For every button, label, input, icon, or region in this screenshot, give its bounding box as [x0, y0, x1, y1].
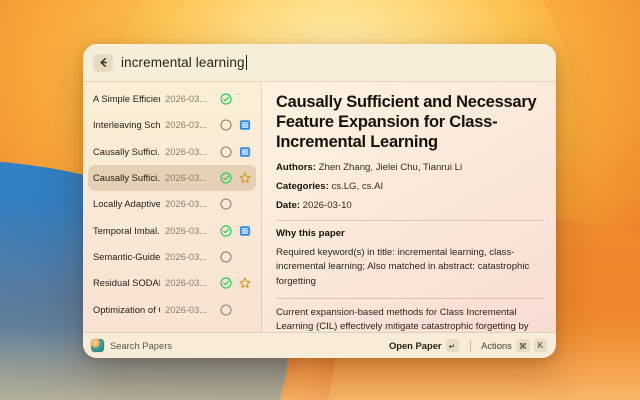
authors-value: Zhen Zhang, Jielei Chu, Tianrui Li [316, 162, 462, 173]
list-item-title: Causally Suffici... [93, 147, 160, 157]
list-item-title: A Simple Efficiency I... [93, 94, 160, 104]
list-item-icons [215, 277, 251, 290]
document-blue-icon [238, 224, 251, 237]
open-paper-label: Open Paper [389, 340, 442, 351]
circle-empty-icon [219, 303, 232, 316]
icon-empty [238, 198, 251, 211]
list-item-date: 2026-03... [165, 252, 207, 262]
list-item-date: 2026-03... [165, 278, 207, 288]
document-blue-icon [238, 119, 251, 132]
list-item[interactable]: Optimization of Conti...2026-03... [88, 296, 256, 322]
check-circle-icon [219, 172, 232, 185]
footer-bar: Search Papers Open Paper ↵ Actions ⌘ K [83, 332, 556, 358]
circle-empty-icon [219, 119, 232, 132]
circle-empty-icon [219, 250, 232, 263]
check-circle-icon [219, 93, 232, 106]
abstract-body: Current expansion-based methods for Clas… [276, 306, 543, 332]
authors-label: Authors: [276, 162, 316, 173]
paper-detail-pane: Causally Sufficient and Necessary Featur… [262, 82, 556, 332]
icon-empty [238, 93, 251, 106]
list-item-date: 2026-03... [165, 173, 207, 183]
list-item[interactable]: Causally Suffici...2026-03... [88, 139, 256, 165]
why-this-paper-heading: Why this paper [276, 228, 543, 239]
list-item[interactable]: Residual SODAP...2026-03... [88, 270, 256, 296]
categories-label: Categories: [276, 181, 329, 192]
desktop-background: incremental learning A Simple Efficiency… [0, 0, 640, 400]
spotlight-window: incremental learning A Simple Efficiency… [83, 44, 556, 358]
k-key-badge: K [534, 339, 547, 352]
list-item[interactable]: Semantic-Guided Dy...2026-03... [88, 244, 256, 270]
list-item[interactable]: Locally Adaptive Co...2026-03... [88, 191, 256, 217]
open-paper-action[interactable]: Open Paper ↵ [389, 339, 459, 352]
check-circle-icon [219, 277, 232, 290]
list-item-title: Locally Adaptive Co... [93, 199, 160, 209]
date-line: Date: 2026-03-10 [276, 200, 543, 212]
command-key-badge: ⌘ [516, 339, 530, 352]
list-item-icons [215, 145, 251, 158]
date-label: Date: [276, 200, 300, 211]
categories-line: Categories: cs.LG, cs.AI [276, 181, 543, 193]
star-icon [238, 172, 251, 185]
list-item-icons [215, 198, 251, 211]
page-title: Causally Sufficient and Necessary Featur… [276, 93, 543, 153]
divider-above-abstract [276, 298, 543, 299]
authors-line: Authors: Zhen Zhang, Jielei Chu, Tianrui… [276, 162, 543, 174]
window-body: A Simple Efficiency I...2026-03...Interl… [83, 82, 556, 332]
list-item-date: 2026-03... [165, 226, 207, 236]
list-item-title: Residual SODAP... [93, 278, 160, 288]
list-item-date: 2026-03... [165, 305, 207, 315]
footer-app-name: Search Papers [110, 340, 172, 351]
list-item-date: 2026-03... [165, 94, 207, 104]
return-key-badge: ↵ [446, 339, 459, 352]
search-input-value: incremental learning [121, 55, 245, 70]
list-item[interactable]: Temporal Imbal...2026-03... [88, 217, 256, 243]
list-item-title: Optimization of Conti... [93, 305, 160, 315]
list-item-title: Causally Suffici... [93, 173, 160, 183]
text-caret [246, 55, 248, 70]
list-item-icons [215, 224, 251, 237]
circle-empty-icon [219, 145, 232, 158]
list-item[interactable]: Interleaving Sch...2026-03... [88, 112, 256, 138]
search-input[interactable]: incremental learning [121, 55, 546, 70]
results-list[interactable]: A Simple Efficiency I...2026-03...Interl… [83, 82, 262, 332]
document-blue-icon [238, 145, 251, 158]
date-value: 2026-03-10 [300, 200, 352, 211]
actions-action[interactable]: Actions ⌘ K [481, 339, 547, 352]
list-item-title: Semantic-Guided Dy... [93, 252, 160, 262]
list-item-title: Interleaving Sch... [93, 120, 160, 130]
list-item-icons [215, 93, 251, 106]
icon-empty [238, 303, 251, 316]
list-item-icons [215, 303, 251, 316]
app-icon [91, 339, 104, 352]
footer-divider [470, 340, 471, 351]
categories-value: cs.LG, cs.AI [329, 181, 383, 192]
list-item[interactable]: A Simple Efficiency I...2026-03... [88, 86, 256, 112]
list-item-date: 2026-03... [165, 199, 207, 209]
list-item-date: 2026-03... [165, 120, 207, 130]
check-circle-icon [219, 224, 232, 237]
list-item-icons [215, 250, 251, 263]
icon-empty [238, 250, 251, 263]
divider-above-why [276, 220, 543, 221]
search-bar: incremental learning [83, 44, 556, 82]
circle-empty-icon [219, 198, 232, 211]
list-item-title: Temporal Imbal... [93, 226, 160, 236]
list-item[interactable]: Causally Suffici...2026-03... [88, 165, 256, 191]
list-item-icons [215, 172, 251, 185]
actions-label: Actions [481, 340, 512, 351]
list-item-icons [215, 119, 251, 132]
star-icon [238, 277, 251, 290]
why-this-paper-body: Required keyword(s) in title: incrementa… [276, 246, 543, 290]
arrow-left-icon[interactable] [93, 54, 113, 72]
list-item-date: 2026-03... [165, 147, 207, 157]
